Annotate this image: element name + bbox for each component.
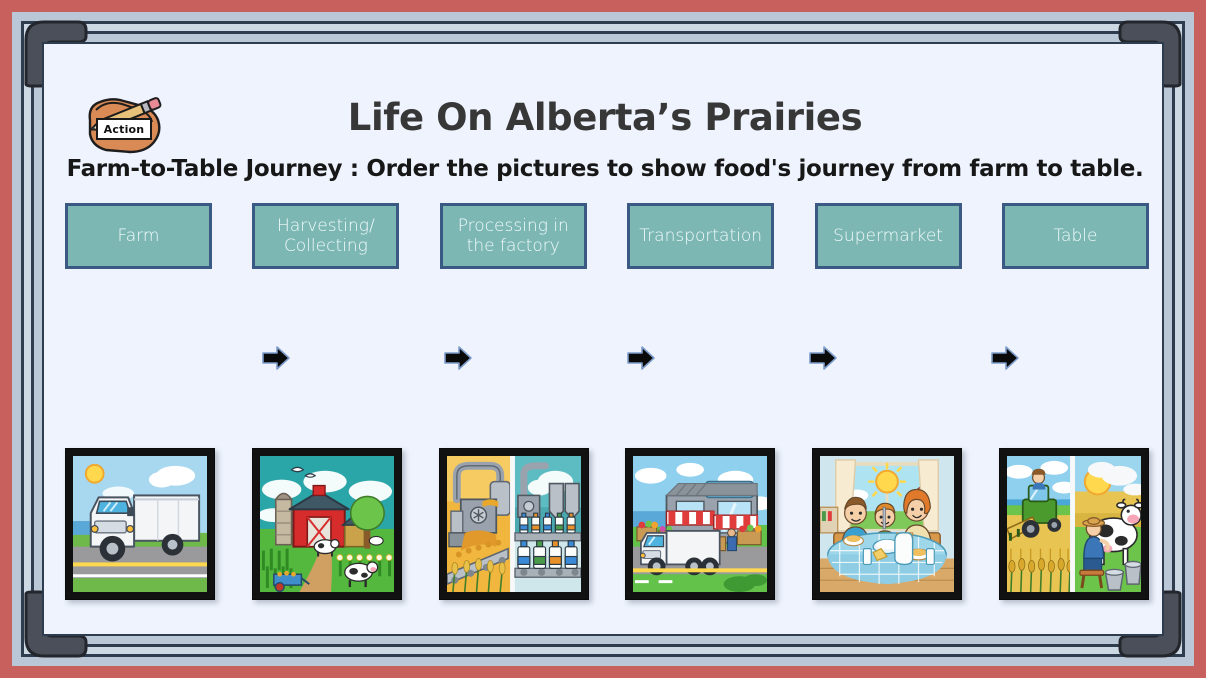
page-title: Life On Alberta’s Prairies xyxy=(44,96,1164,139)
stage-label-farm[interactable]: Farm xyxy=(65,203,212,269)
card-farm-barn-image xyxy=(260,456,394,592)
card-farm-barn[interactable] xyxy=(252,448,402,600)
right-arrow-icon xyxy=(626,344,656,372)
right-arrow-icon xyxy=(808,344,838,372)
arrow-row xyxy=(65,344,1149,374)
right-arrow-icon xyxy=(261,344,291,372)
card-transport-truck-image xyxy=(73,456,207,592)
right-arrow-icon xyxy=(443,344,473,372)
stage-label-supermarket[interactable]: Supermarket xyxy=(815,203,962,269)
card-family-table-image xyxy=(820,456,954,592)
card-supermarket-image xyxy=(633,456,767,592)
picture-card-row xyxy=(65,448,1149,603)
card-transport-truck[interactable] xyxy=(65,448,215,600)
card-factory-processing-image xyxy=(447,456,581,592)
slide-canvas: Action Life On Alberta’s Prairies Farm-t… xyxy=(42,42,1164,636)
stage-label-harvesting-collecting[interactable]: Harvesting/Collecting xyxy=(252,203,399,269)
stage-label-transportation[interactable]: Transportation xyxy=(627,203,774,269)
card-factory-processing[interactable] xyxy=(439,448,589,600)
card-supermarket[interactable] xyxy=(625,448,775,600)
card-harvesting[interactable] xyxy=(999,448,1149,600)
card-harvesting-image xyxy=(1007,456,1141,592)
stage-label-table[interactable]: Table xyxy=(1002,203,1149,269)
stage-label-processing-factory[interactable]: Processing inthe factory xyxy=(440,203,587,269)
right-arrow-icon xyxy=(990,344,1020,372)
card-family-table[interactable] xyxy=(812,448,962,600)
activity-instruction: Farm-to-Table Journey : Order the pictur… xyxy=(44,156,1164,182)
stage-label-row: Farm Harvesting/Collecting Processing in… xyxy=(65,203,1149,273)
slide-root: Action Life On Alberta’s Prairies Farm-t… xyxy=(0,0,1206,678)
